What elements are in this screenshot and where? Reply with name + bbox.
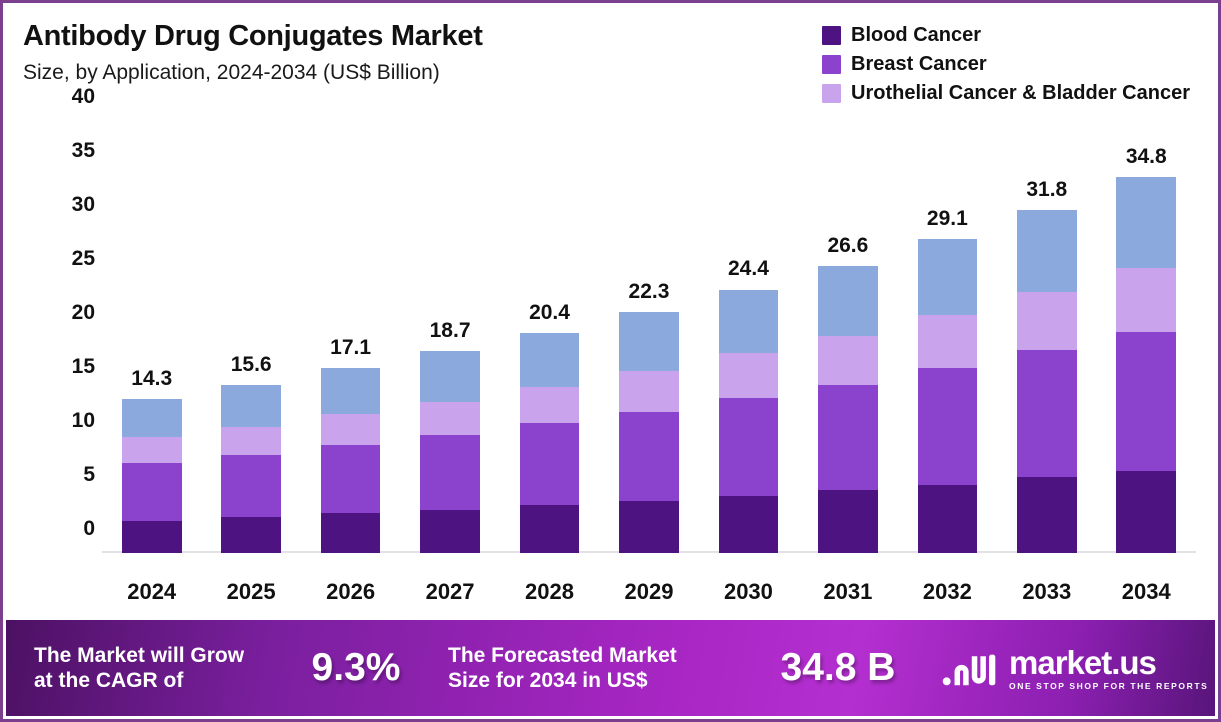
bar-segment[interactable] <box>122 521 182 553</box>
bar-segment[interactable] <box>818 266 878 336</box>
bar-column[interactable]: 24.42030 <box>719 289 779 553</box>
x-axis-category-label: 2030 <box>724 579 773 605</box>
x-axis-category-label: 2028 <box>525 579 574 605</box>
bar-segment[interactable] <box>918 239 978 316</box>
bar-segment[interactable] <box>420 351 480 402</box>
forecast-size-label: The Forecasted Market Size for 2034 in U… <box>448 643 748 693</box>
bar-segment[interactable] <box>818 490 878 553</box>
bar-column[interactable]: 17.12026 <box>321 368 381 553</box>
x-axis-category-label: 2032 <box>923 579 972 605</box>
bar-segment[interactable] <box>321 513 381 553</box>
bars-container: 14.3202415.6202517.1202618.7202720.42028… <box>102 121 1196 616</box>
y-axis-tick-label: 5 <box>83 463 95 487</box>
bar-segment[interactable] <box>619 412 679 502</box>
bar-value-label: 17.1 <box>330 336 371 360</box>
bar-segment[interactable] <box>1116 332 1176 471</box>
bar-segment[interactable] <box>719 353 779 397</box>
bar-value-label: 14.3 <box>131 367 172 391</box>
bar-segment[interactable] <box>719 398 779 496</box>
bar-segment[interactable] <box>1017 477 1077 553</box>
plot-area: 0510152025303540 14.3202415.6202517.1202… <box>3 121 1218 616</box>
legend-item[interactable]: Breast Cancer <box>822 54 987 74</box>
legend-item-label: Blood Cancer <box>851 25 981 45</box>
x-axis-category-label: 2026 <box>326 579 375 605</box>
x-axis-category-label: 2027 <box>426 579 475 605</box>
bar-segment[interactable] <box>619 501 679 553</box>
bar-column[interactable]: 29.12032 <box>918 239 978 553</box>
legend-swatch-icon <box>822 84 841 103</box>
bar-segment[interactable] <box>918 485 978 553</box>
cagr-label-line1: The Market will Grow <box>34 643 286 668</box>
legend-item-label: Breast Cancer <box>851 54 987 74</box>
x-axis-category-label: 2033 <box>1022 579 1071 605</box>
bar-value-label: 34.8 <box>1126 145 1167 169</box>
bar-segment[interactable] <box>1017 292 1077 350</box>
bar-value-label: 22.3 <box>629 280 670 304</box>
chart-legend: Blood CancerBreast CancerUrothelial Canc… <box>822 25 1190 103</box>
bar-segment[interactable] <box>1116 177 1176 268</box>
bar-column[interactable]: 22.32029 <box>619 312 679 553</box>
x-axis-category-label: 2031 <box>823 579 872 605</box>
bar-segment[interactable] <box>818 336 878 385</box>
chart-infographic: Antibody Drug Conjugates Market Size, by… <box>0 0 1221 722</box>
market-us-logo[interactable]: market.us ONE STOP SHOP FOR THE REPORTS <box>942 646 1208 691</box>
x-axis-category-label: 2024 <box>127 579 176 605</box>
bar-value-label: 18.7 <box>430 319 471 343</box>
cagr-value: 9.3% <box>286 645 426 692</box>
bar-column[interactable]: 20.42028 <box>520 333 580 553</box>
legend-swatch-icon <box>822 55 841 74</box>
header-block: Antibody Drug Conjugates Market Size, by… <box>23 21 483 85</box>
bar-segment[interactable] <box>221 385 281 427</box>
y-axis: 0510152025303540 <box>33 121 95 616</box>
page-subtitle: Size, by Application, 2024-2034 (US$ Bil… <box>23 61 483 84</box>
logo-mark-icon <box>942 648 1000 688</box>
x-axis-category-label: 2025 <box>227 579 276 605</box>
bar-column[interactable]: 18.72027 <box>420 351 480 553</box>
bar-column[interactable]: 15.62025 <box>221 385 281 553</box>
logo-name: market.us <box>1009 646 1208 679</box>
legend-item[interactable]: Blood Cancer <box>822 25 981 45</box>
bar-segment[interactable] <box>520 333 580 387</box>
bar-segment[interactable] <box>321 445 381 513</box>
bar-segment[interactable] <box>420 402 480 435</box>
bar-segment[interactable] <box>818 385 878 491</box>
bar-column[interactable]: 34.82034 <box>1116 177 1176 553</box>
bar-column[interactable]: 31.82033 <box>1017 210 1077 553</box>
bar-segment[interactable] <box>122 463 182 520</box>
bar-value-label: 26.6 <box>827 234 868 258</box>
y-axis-tick-label: 20 <box>72 301 95 325</box>
bar-segment[interactable] <box>619 371 679 412</box>
y-axis-tick-label: 35 <box>72 139 95 163</box>
footer-banner: The Market will Grow at the CAGR of 9.3%… <box>6 620 1215 716</box>
bar-value-label: 24.4 <box>728 257 769 281</box>
bar-segment[interactable] <box>719 496 779 553</box>
bar-segment[interactable] <box>1017 350 1077 477</box>
bar-value-label: 31.8 <box>1026 178 1067 202</box>
bar-segment[interactable] <box>1116 471 1176 553</box>
bar-column[interactable]: 26.62031 <box>818 266 878 553</box>
bar-segment[interactable] <box>321 414 381 445</box>
bar-segment[interactable] <box>520 387 580 424</box>
forecast-size-value: 34.8 B <box>748 645 928 692</box>
forecast-size-label-line1: The Forecasted Market <box>448 643 748 668</box>
bar-segment[interactable] <box>918 368 978 485</box>
bar-segment[interactable] <box>619 312 679 370</box>
y-axis-tick-label: 0 <box>83 517 95 541</box>
y-axis-tick-label: 10 <box>72 409 95 433</box>
x-axis-category-label: 2029 <box>625 579 674 605</box>
x-axis-category-label: 2034 <box>1122 579 1171 605</box>
bar-value-label: 29.1 <box>927 207 968 231</box>
bar-segment[interactable] <box>420 435 480 510</box>
forecast-size-label-line2: Size for 2034 in US$ <box>448 668 748 693</box>
y-axis-tick-label: 25 <box>72 247 95 271</box>
bar-segment[interactable] <box>221 455 281 518</box>
legend-swatch-icon <box>822 26 841 45</box>
legend-item[interactable]: Urothelial Cancer & Bladder Cancer <box>822 83 1190 103</box>
y-axis-tick-label: 30 <box>72 193 95 217</box>
legend-item-label: Urothelial Cancer & Bladder Cancer <box>851 83 1190 103</box>
bar-segment[interactable] <box>420 510 480 553</box>
bar-column[interactable]: 14.32024 <box>122 399 182 553</box>
bar-value-label: 20.4 <box>529 301 570 325</box>
logo-tagline: ONE STOP SHOP FOR THE REPORTS <box>1009 682 1208 691</box>
bar-segment[interactable] <box>321 368 381 413</box>
bar-segment[interactable] <box>719 290 779 354</box>
bar-segment[interactable] <box>918 315 978 368</box>
cagr-label: The Market will Grow at the CAGR of <box>34 643 286 693</box>
y-axis-tick-label: 40 <box>72 85 95 109</box>
bar-segment[interactable] <box>122 399 182 438</box>
bar-segment[interactable] <box>221 427 281 455</box>
bar-segment[interactable] <box>520 505 580 553</box>
y-axis-tick-label: 15 <box>72 355 95 379</box>
bar-segment[interactable] <box>122 437 182 463</box>
cagr-label-line2: at the CAGR of <box>34 668 286 693</box>
bar-value-label: 15.6 <box>231 353 272 377</box>
page-title: Antibody Drug Conjugates Market <box>23 21 483 51</box>
bar-segment[interactable] <box>1116 268 1176 332</box>
bar-segment[interactable] <box>520 423 580 505</box>
bar-segment[interactable] <box>1017 210 1077 292</box>
bar-segment[interactable] <box>221 517 281 553</box>
logo-text: market.us ONE STOP SHOP FOR THE REPORTS <box>1009 646 1208 691</box>
